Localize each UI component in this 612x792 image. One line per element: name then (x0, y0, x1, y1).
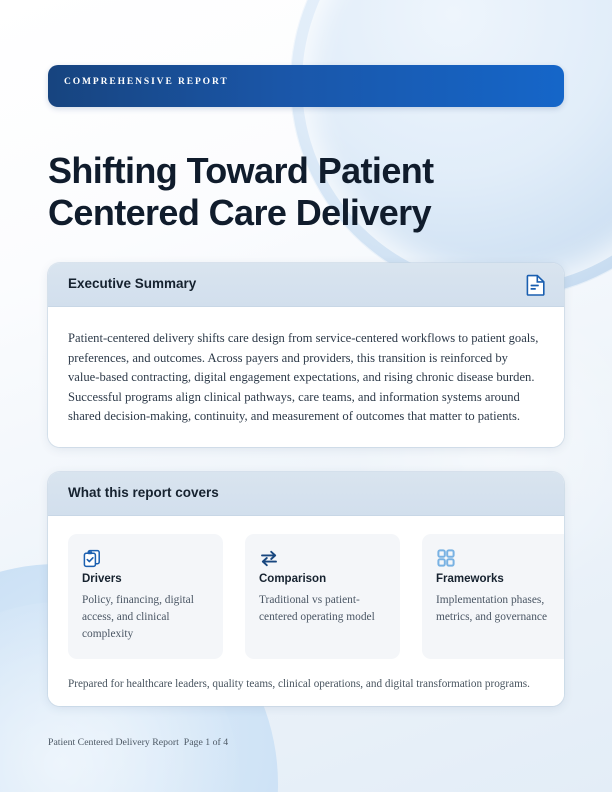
document-icon (526, 274, 546, 296)
report-page: COMPREHENSIVE REPORT Shifting Toward Pat… (0, 0, 612, 792)
coverage-card-description: Traditional vs patient-centered operatin… (259, 592, 386, 626)
page-footer: Patient Centered Delivery Report Page 1 … (48, 737, 228, 748)
executive-summary-text: Patient-centered delivery shifts care de… (68, 329, 542, 427)
coverage-card-description: Policy, financing, digital access, and c… (82, 592, 209, 643)
clipboard-check-icon (82, 555, 102, 572)
executive-summary-heading: Executive Summary (68, 276, 196, 291)
coverage-heading: What this report covers (68, 485, 219, 500)
page-content: COMPREHENSIVE REPORT Shifting Toward Pat… (0, 0, 612, 792)
coverage-card-row: Drivers Policy, financing, digital acces… (68, 534, 564, 659)
executive-summary-panel: Executive Summary Patient-centered deliv… (48, 263, 564, 447)
report-type-badge: COMPREHENSIVE REPORT (48, 65, 564, 107)
page-title: Shifting Toward Patient Centered Care De… (48, 150, 548, 234)
coverage-card-title: Drivers (82, 573, 209, 585)
coverage-header: What this report covers (48, 472, 564, 516)
executive-summary-body: Patient-centered delivery shifts care de… (48, 307, 564, 447)
grid-squares-icon (436, 555, 456, 572)
coverage-card-description: Implementation phases, metrics, and gove… (436, 592, 563, 626)
swap-arrows-icon (259, 555, 279, 572)
coverage-card-title: Frameworks (436, 573, 563, 585)
coverage-card-title: Comparison (259, 573, 386, 585)
coverage-card-drivers: Drivers Policy, financing, digital acces… (68, 534, 223, 659)
executive-summary-header: Executive Summary (48, 263, 564, 307)
coverage-panel: What this report covers (48, 472, 564, 706)
coverage-card-frameworks: Frameworks Implementation phases, metric… (422, 534, 564, 659)
coverage-note: Prepared for healthcare leaders, quality… (68, 677, 564, 692)
report-type-label: COMPREHENSIVE REPORT (64, 77, 229, 87)
coverage-card-comparison: Comparison Traditional vs patient-center… (245, 534, 400, 659)
coverage-body: Drivers Policy, financing, digital acces… (48, 516, 564, 706)
